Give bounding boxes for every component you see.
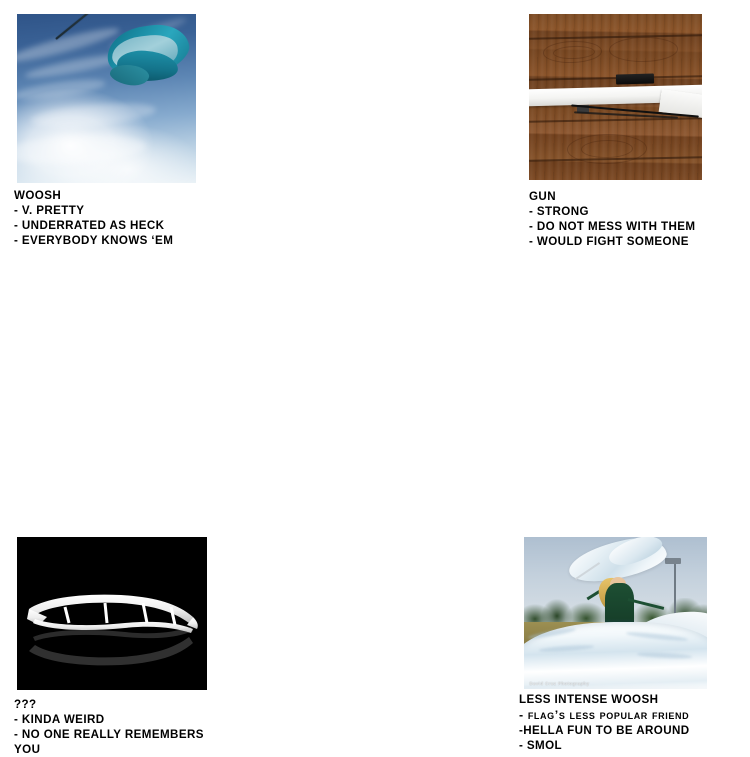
panel-mock: ??? - KINDA WEIRD - NO ONE REALLY REMEMB… (0, 265, 239, 500)
caption-title: LESS INTENSE WOOSH (519, 692, 734, 707)
caption-line: - SMOL (519, 738, 734, 753)
stadium-light-head (665, 558, 681, 564)
mock-sabre-body (27, 595, 198, 666)
flag-photo (17, 14, 196, 183)
meme-grid: WOOSH - V. PRETTY - UNDERRATED AS HECK -… (0, 0, 750, 500)
stadium-light-pole (674, 561, 676, 616)
caption-line: - V. PRETTY (14, 203, 239, 218)
panel-performer: David Cruz Photography LESS INTENSE WOOS… (239, 265, 478, 500)
caption-line: - EVERYBODY KNOWS ‘EM (14, 233, 239, 248)
caption-line: -HELLA FUN TO BE AROUND (519, 723, 734, 738)
caption-line: - NO ONE REALLY REMEMBERS (14, 727, 249, 742)
panel-gun: GUN - STRONG - DO NOT MESS WITH THEM - W… (239, 0, 478, 265)
caption-line: YOU (14, 742, 249, 757)
caption-line: - Flag’s less popular friend (519, 707, 734, 723)
caption-performer: LESS INTENSE WOOSH - Flag’s less popular… (519, 692, 734, 753)
mock-sabre-photo (17, 537, 207, 690)
panel-flag: WOOSH - V. PRETTY - UNDERRATED AS HECK -… (0, 0, 239, 265)
photo-watermark: David Cruz Photography (529, 681, 589, 686)
caption-line: - KINDA WEIRD (14, 712, 249, 727)
mock-sabre-illustration (17, 537, 207, 690)
caption-mock: ??? - KINDA WEIRD - NO ONE REALLY REMEMB… (14, 697, 249, 757)
performer-scene: David Cruz Photography (524, 537, 707, 689)
panel-gloves: SMELLING SALTS - STINKS - TENDS TO GO MI… (478, 265, 750, 500)
caption-title: ??? (14, 697, 249, 712)
performer-photo: David Cruz Photography (524, 537, 707, 689)
caption-line: - UNDERRATED AS HECK (14, 218, 239, 233)
caption-flag: WOOSH - V. PRETTY - UNDERRATED AS HECK -… (14, 188, 239, 248)
panel-knife: BIG BUTTER KNIFE - EVERYONE IS SORTA SCA… (478, 0, 750, 265)
flag-scene (17, 14, 196, 183)
caption-title: WOOSH (14, 188, 239, 203)
